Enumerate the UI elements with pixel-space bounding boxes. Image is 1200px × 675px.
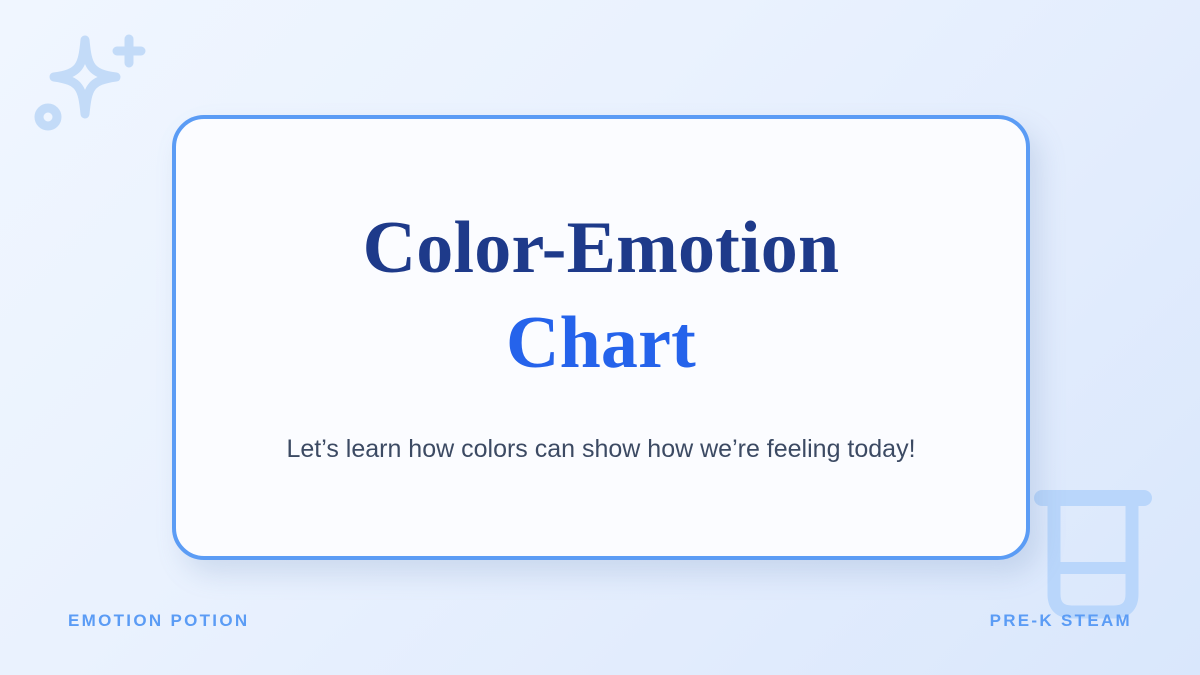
page-title: Color-Emotion Chart	[363, 201, 840, 390]
footer-brand-right: PRE-K STEAM	[990, 611, 1132, 631]
footer-brand-left: EMOTION POTION	[68, 611, 249, 631]
beaker-decoration	[1030, 486, 1156, 621]
title-card: Color-Emotion Chart Let’s learn how colo…	[172, 115, 1030, 560]
page-title-line-2: Chart	[363, 296, 840, 391]
page-subtitle: Let’s learn how colors can show how we’r…	[286, 425, 915, 474]
sparkle-decoration	[28, 26, 148, 138]
sparkle-icon	[28, 26, 148, 138]
slide-canvas: Color-Emotion Chart Let’s learn how colo…	[0, 0, 1200, 675]
beaker-icon	[1030, 486, 1156, 621]
page-title-line-1: Color-Emotion	[363, 201, 840, 296]
